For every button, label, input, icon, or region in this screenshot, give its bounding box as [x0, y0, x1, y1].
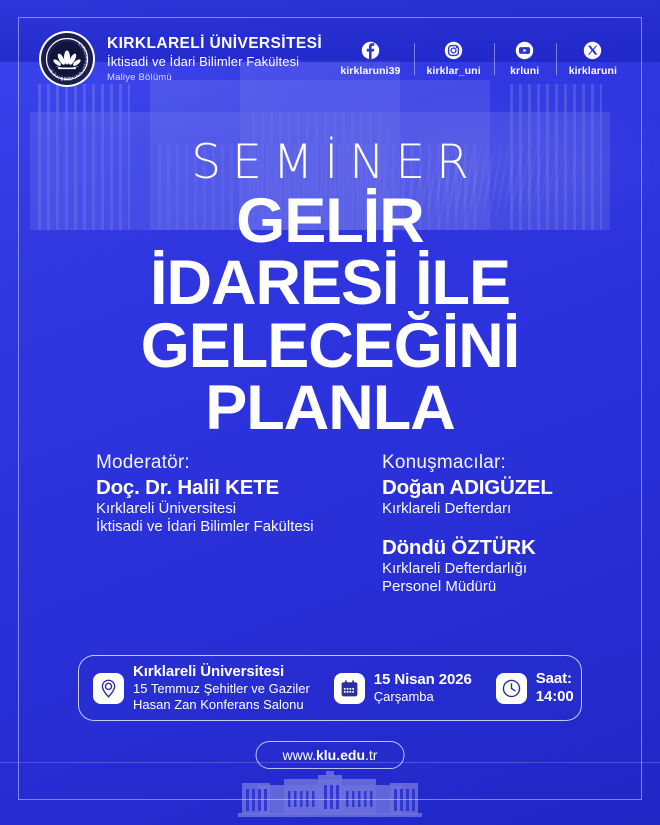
- social-links: kirklaruni39 kirklar_uni: [327, 41, 630, 77]
- url-domain: klu.edu: [316, 747, 365, 763]
- speaker-entry: Döndü ÖZTÜRK Kırklareli Defterdarlığı Pe…: [382, 536, 652, 596]
- instagram-icon: [444, 41, 463, 60]
- poster-kicker: SEMİNER: [0, 135, 660, 190]
- calendar-icon: [339, 678, 360, 699]
- speaker-org-line-1: Kırklareli Defterdarı: [382, 500, 652, 518]
- moderator-block: Moderatör: Doç. Dr. Halil KETE Kırklarel…: [96, 452, 386, 536]
- calendar-icon-badge: [334, 673, 365, 704]
- speaker-name: Doğan ADIGÜZEL: [382, 476, 652, 500]
- info-time: Saat: 14:00: [484, 656, 586, 720]
- title-line-1: GELİR: [0, 190, 660, 252]
- facebook-icon: [361, 41, 380, 60]
- youtube-icon: [515, 41, 534, 60]
- moderator-role-label: Moderatör:: [96, 452, 386, 474]
- time-label: Saat:: [536, 670, 574, 688]
- speaker-org-line-2: Personel Müdürü: [382, 578, 652, 596]
- clock-icon: [501, 678, 522, 699]
- speakers-role-label: Konuşmacılar:: [382, 452, 652, 474]
- social-link-instagram[interactable]: kirklar_uni: [414, 41, 494, 77]
- poster-title: GELİR İDARESİ İLE GELECEĞİNİ PLANLA: [0, 190, 660, 439]
- title-line-3: GELECEĞİNİ: [0, 315, 660, 377]
- website-url-pill[interactable]: www.klu.edu.tr: [256, 741, 405, 769]
- url-prefix: www.: [283, 747, 316, 763]
- social-handle: kirklaruni: [569, 65, 617, 77]
- speakers-block: Konuşmacılar: Doğan ADIGÜZEL Kırklareli …: [382, 452, 652, 596]
- title-line-2: İDARESİ İLE: [0, 252, 660, 314]
- social-handle: krluni: [510, 65, 539, 77]
- event-info-bar: Kırklareli Üniversitesi 15 Temmuz Şehitl…: [78, 655, 582, 721]
- social-link-facebook[interactable]: kirklaruni39: [327, 41, 413, 77]
- event-date: 15 Nisan 2026: [374, 671, 472, 689]
- moderator-name: Doç. Dr. Halil KETE: [96, 476, 386, 500]
- seminar-poster: KIRKLARELİ ÜNİVERSİTESİ 2007 KIRKLARELİ …: [0, 0, 660, 825]
- speaker-org-line-1: Kırklareli Defterdarlığı: [382, 560, 652, 578]
- moderator-org-line-1: Kırklareli Üniversitesi: [96, 500, 386, 518]
- speaker-name: Döndü ÖZTÜRK: [382, 536, 652, 560]
- location-hall: Hasan Zan Konferans Salonu: [133, 697, 310, 713]
- social-handle: kirklaruni39: [340, 65, 400, 77]
- event-weekday: Çarşamba: [374, 689, 472, 705]
- location-name: Kırklareli Üniversitesi: [133, 663, 310, 681]
- info-date: 15 Nisan 2026 Çarşamba: [322, 656, 484, 720]
- svg-text:2007: 2007: [61, 77, 74, 82]
- brand-faculty-name: İktisadi ve İdari Bilimler Fakültesi: [107, 54, 322, 69]
- poster-header: KIRKLARELİ ÜNİVERSİTESİ 2007 KIRKLARELİ …: [38, 30, 630, 88]
- title-line-4: PLANLA: [0, 377, 660, 439]
- social-link-youtube[interactable]: krluni: [494, 41, 556, 77]
- clock-icon-badge: [496, 673, 527, 704]
- social-link-x[interactable]: kirklaruni: [556, 41, 630, 77]
- university-brand: KIRKLARELİ ÜNİVERSİTESİ 2007 KIRKLARELİ …: [38, 30, 322, 88]
- map-pin-icon: [98, 678, 119, 699]
- map-pin-icon-badge: [93, 673, 124, 704]
- location-address: 15 Temmuz Şehitler ve Gaziler: [133, 681, 310, 697]
- time-value: 14:00: [536, 688, 574, 706]
- url-suffix: .tr: [365, 747, 377, 763]
- university-seal-icon: KIRKLARELİ ÜNİVERSİTESİ 2007: [38, 30, 96, 88]
- brand-department-name: Maliye Bölümü: [107, 72, 322, 83]
- brand-university-name: KIRKLARELİ ÜNİVERSİTESİ: [107, 35, 322, 53]
- social-handle: kirklar_uni: [427, 65, 481, 77]
- moderator-org-line-2: İktisadi ve İdari Bilimler Fakültesi: [96, 518, 386, 536]
- x-twitter-icon: [583, 41, 602, 60]
- info-location: Kırklareli Üniversitesi 15 Temmuz Şehitl…: [79, 656, 322, 720]
- speaker-entry: Doğan ADIGÜZEL Kırklareli Defterdarı: [382, 476, 652, 518]
